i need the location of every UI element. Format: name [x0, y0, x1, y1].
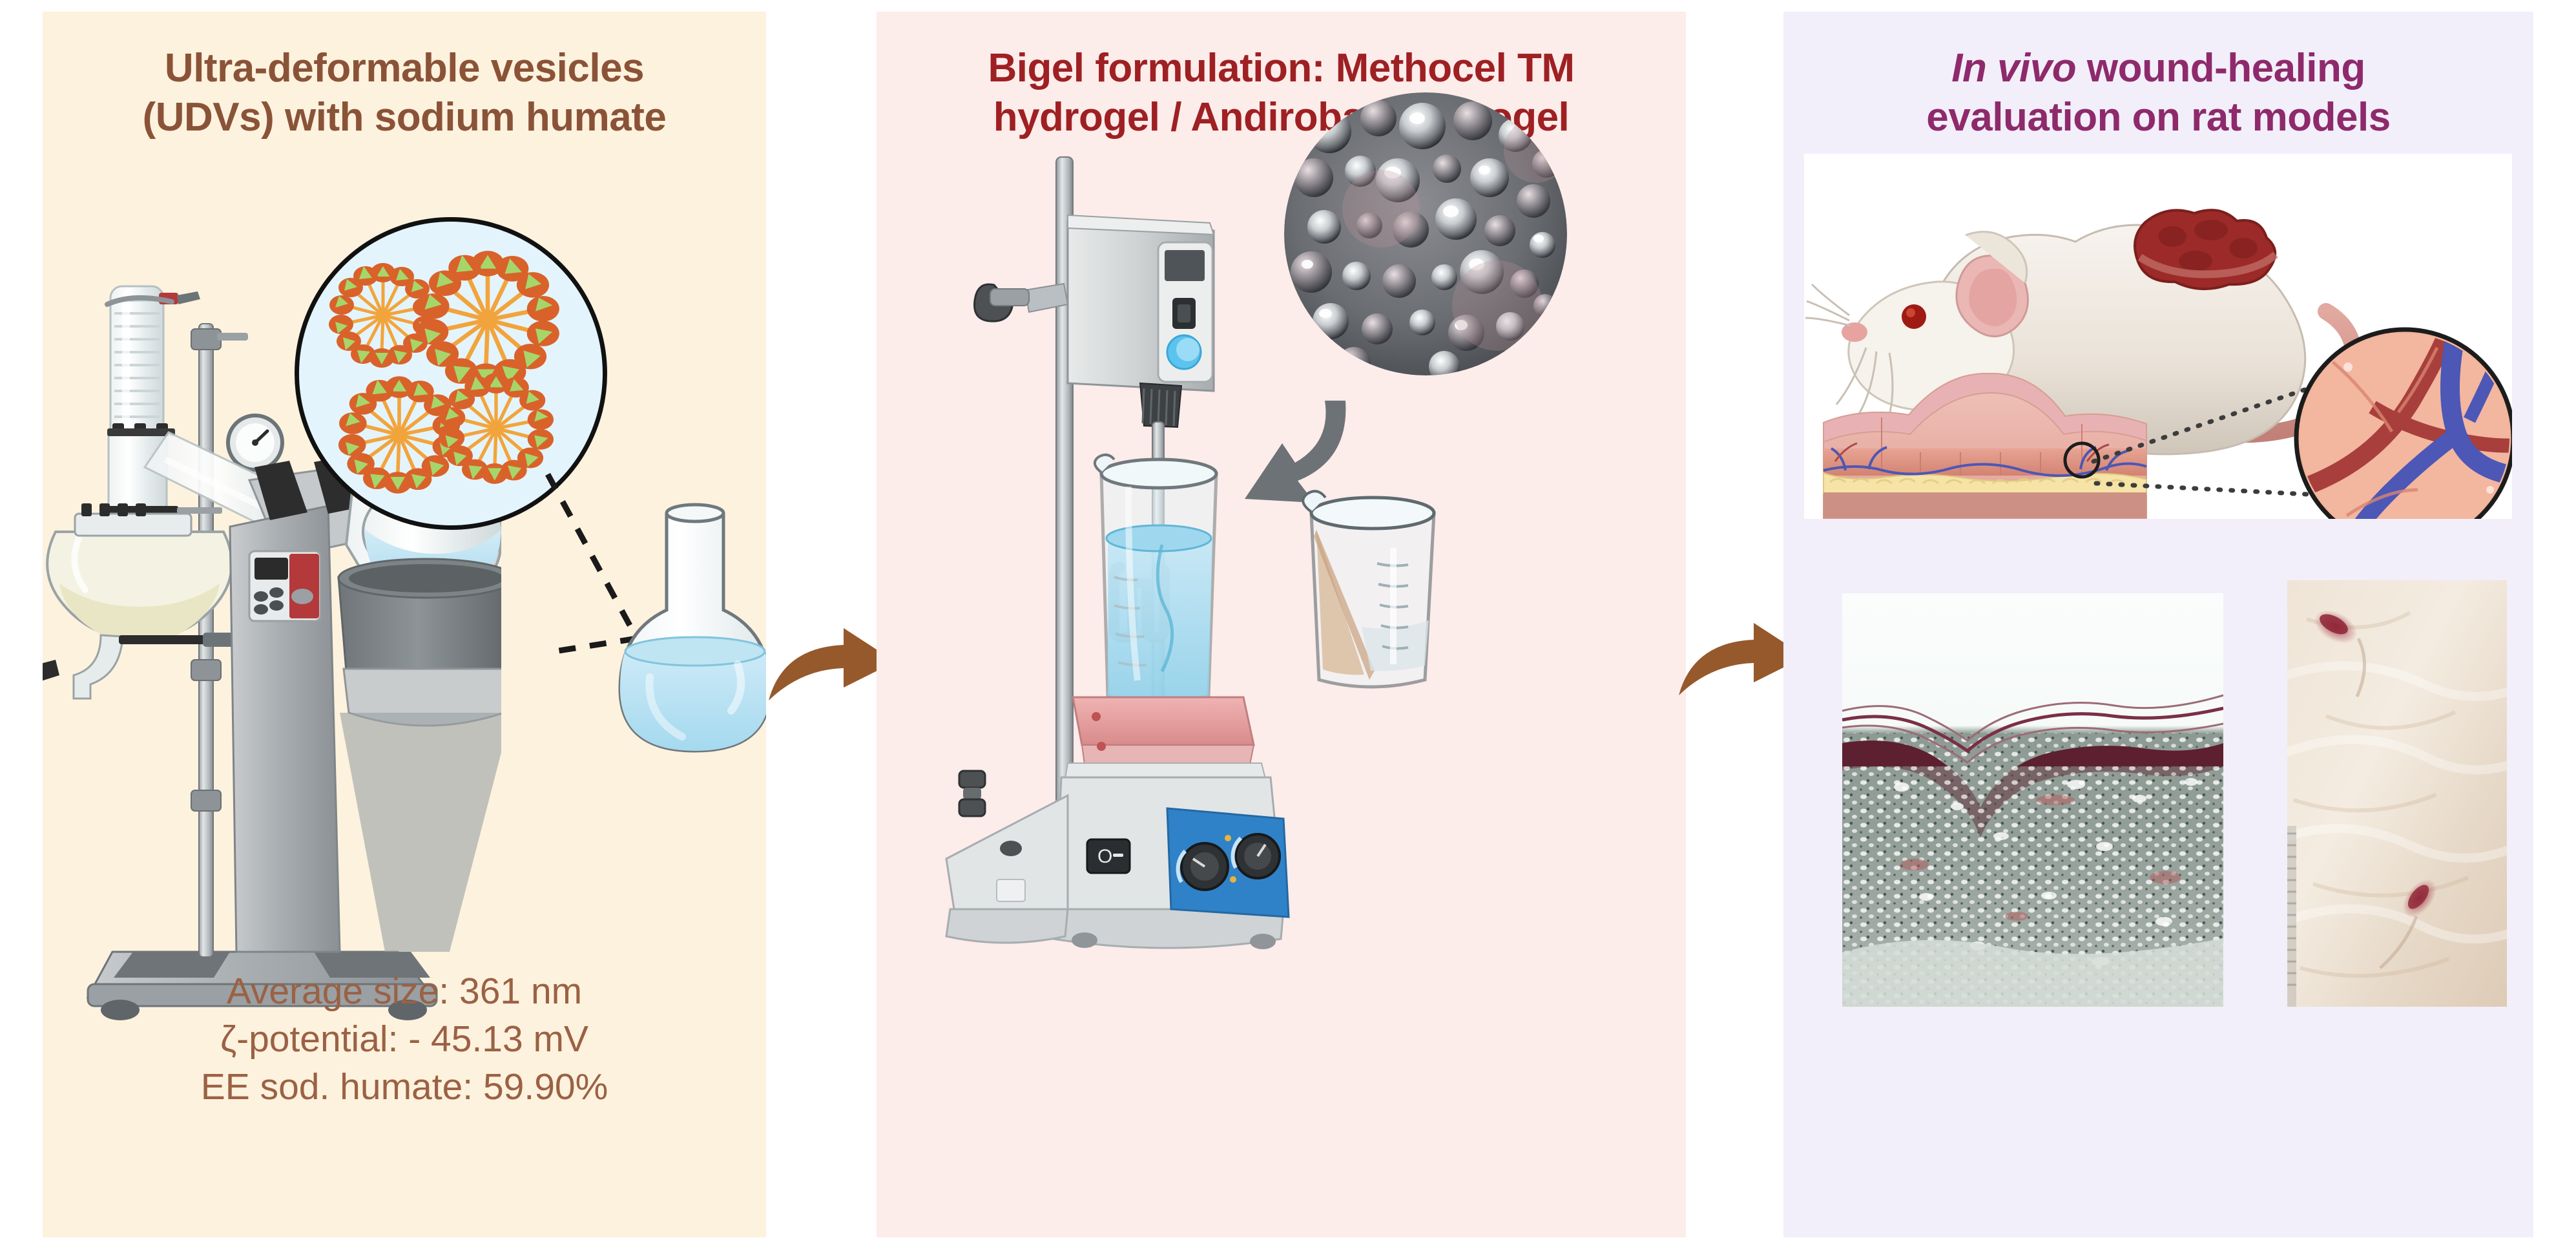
caption-encapsulation-efficiency: EE sod. humate: 59.90%: [43, 1063, 766, 1111]
skin-histology-section: [1842, 593, 2223, 1007]
graphical-abstract: Ultra-deformable vesicles (UDVs) with so…: [0, 0, 2576, 1251]
caption-zeta-potential: ζ-potential: - 45.13 mV: [43, 1015, 766, 1063]
invivo-rest-text: wound-healing: [2076, 46, 2365, 90]
overhead-stirrer-illustration: O: [935, 125, 1296, 1004]
panel-title-invivo: In vivo wound-healing evaluation on rat …: [1783, 44, 2533, 142]
oleogel-beaker-illustration: [1293, 477, 1451, 697]
panel-title-invivo-line2: evaluation on rat models: [1783, 93, 2533, 142]
product-flask-illustration: [605, 490, 766, 761]
panel-title-invivo-line1: In vivo wound-healing: [1783, 44, 2533, 93]
invivo-italic-text: In vivo: [1951, 46, 2076, 90]
bigel-microstructure-micrograph: [1284, 92, 1567, 375]
panel-title-udv: Ultra-deformable vesicles (UDVs) with so…: [43, 44, 766, 142]
panel-udv-preparation: Ultra-deformable vesicles (UDVs) with so…: [43, 12, 766, 1237]
panel-title-udv-line1: Ultra-deformable vesicles: [43, 44, 766, 93]
rat-and-skin-diagram: [1804, 154, 2512, 519]
udv-measurements-caption: Average size: 361 nm ζ-potential: - 45.1…: [43, 967, 766, 1111]
caption-average-size: Average size: 361 nm: [43, 967, 766, 1015]
panel-title-udv-line2: (UDVs) with sodium humate: [43, 93, 766, 142]
healed-rat-skin-photo: [2287, 580, 2507, 1007]
panel-title-bigel-line1: Bigel formulation: Methocel TM: [877, 44, 1686, 93]
panel-invivo-evaluation: In vivo wound-healing evaluation on rat …: [1783, 12, 2533, 1237]
svg-text:O: O: [1097, 846, 1112, 867]
panel-bigel-formulation: Bigel formulation: Methocel TM hydrogel …: [877, 12, 1686, 1237]
